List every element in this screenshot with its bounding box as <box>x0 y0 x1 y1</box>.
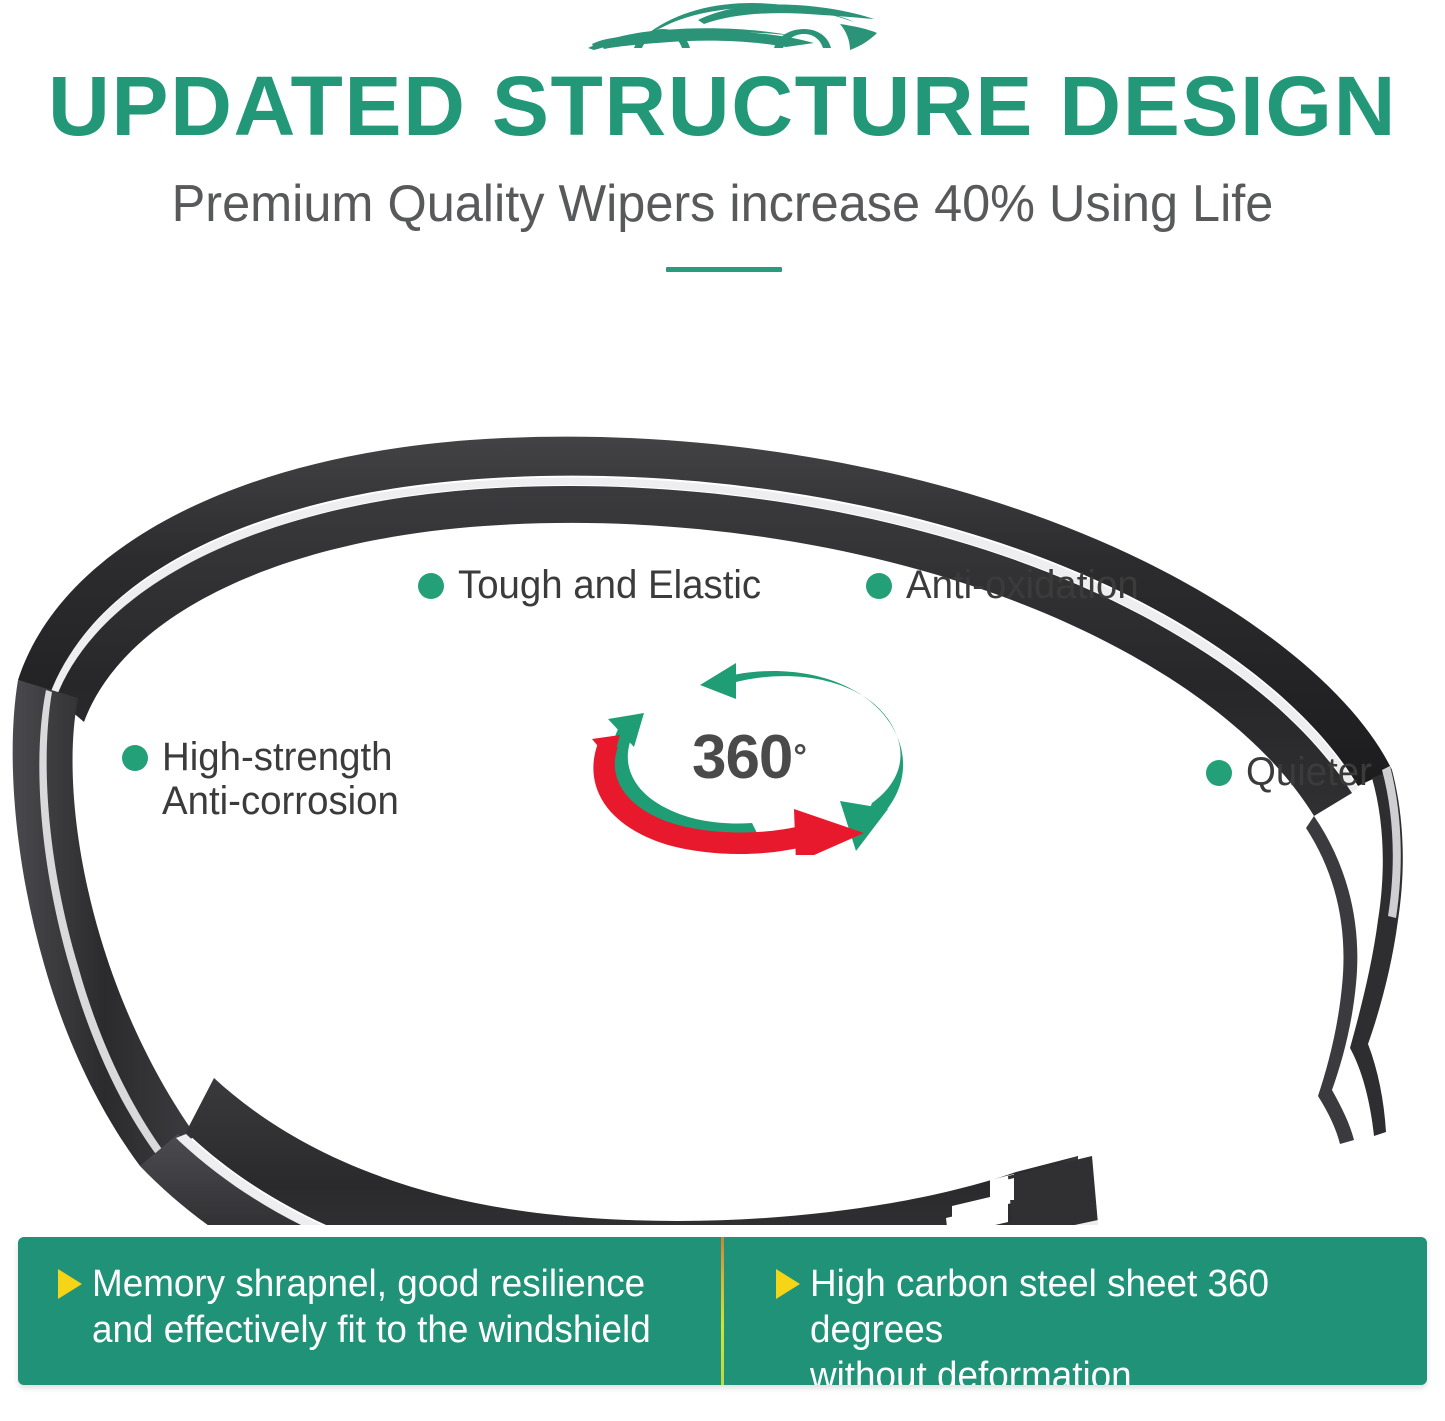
banner-panel-text: Memory shrapnel, good resilience and eff… <box>92 1261 651 1353</box>
title-divider <box>666 267 782 272</box>
bullet-dot-icon <box>418 573 444 599</box>
feature-label: Tough and Elastic <box>458 563 761 607</box>
feature-label-line1: High-strength <box>162 735 393 779</box>
feature-label: Anti-oxidation <box>906 563 1139 607</box>
banner-panel-high-carbon-steel: High carbon steel sheet 360 degrees with… <box>724 1237 1427 1385</box>
feature-label: Quieter <box>1246 750 1372 794</box>
triangle-marker-icon <box>776 1269 800 1299</box>
bullet-dot-icon <box>866 573 892 599</box>
car-silhouette-icon <box>578 2 878 60</box>
banner-panel-text: High carbon steel sheet 360 degrees with… <box>810 1261 1391 1385</box>
banner-panel-memory-shrapnel: Memory shrapnel, good resilience and eff… <box>18 1237 721 1385</box>
page-title: UPDATED STRUCTURE DESIGN <box>0 62 1445 150</box>
header: UPDATED STRUCTURE DESIGN Premium Quality… <box>0 0 1445 300</box>
feature-anti-oxidation: Anti-oxidation <box>866 563 1148 607</box>
360-badge-arrows-icon <box>572 655 920 855</box>
feature-quieter: Quieter <box>1206 750 1377 794</box>
banner-line2: and effectively fit to the windshield <box>92 1309 651 1351</box>
page-subtitle: Premium Quality Wipers increase 40% Usin… <box>22 175 1424 233</box>
feature-label-line2: Anti-corrosion <box>162 779 399 823</box>
feature-tough-and-elastic: Tough and Elastic <box>418 563 774 607</box>
banner-line2: without deformation <box>810 1355 1132 1385</box>
360-degree-badge: 360° <box>572 655 920 855</box>
banner-line1: High carbon steel sheet 360 degrees <box>810 1263 1269 1351</box>
bullet-dot-icon <box>1206 760 1232 786</box>
bottom-feature-banner: Memory shrapnel, good resilience and eff… <box>18 1237 1427 1385</box>
feature-high-strength-anti-corrosion: High-strength Anti-corrosion <box>122 735 409 823</box>
banner-line1: Memory shrapnel, good resilience <box>92 1263 645 1305</box>
triangle-marker-icon <box>58 1269 82 1299</box>
bullet-dot-icon <box>122 745 148 771</box>
feature-label: High-strength Anti-corrosion <box>162 735 399 823</box>
